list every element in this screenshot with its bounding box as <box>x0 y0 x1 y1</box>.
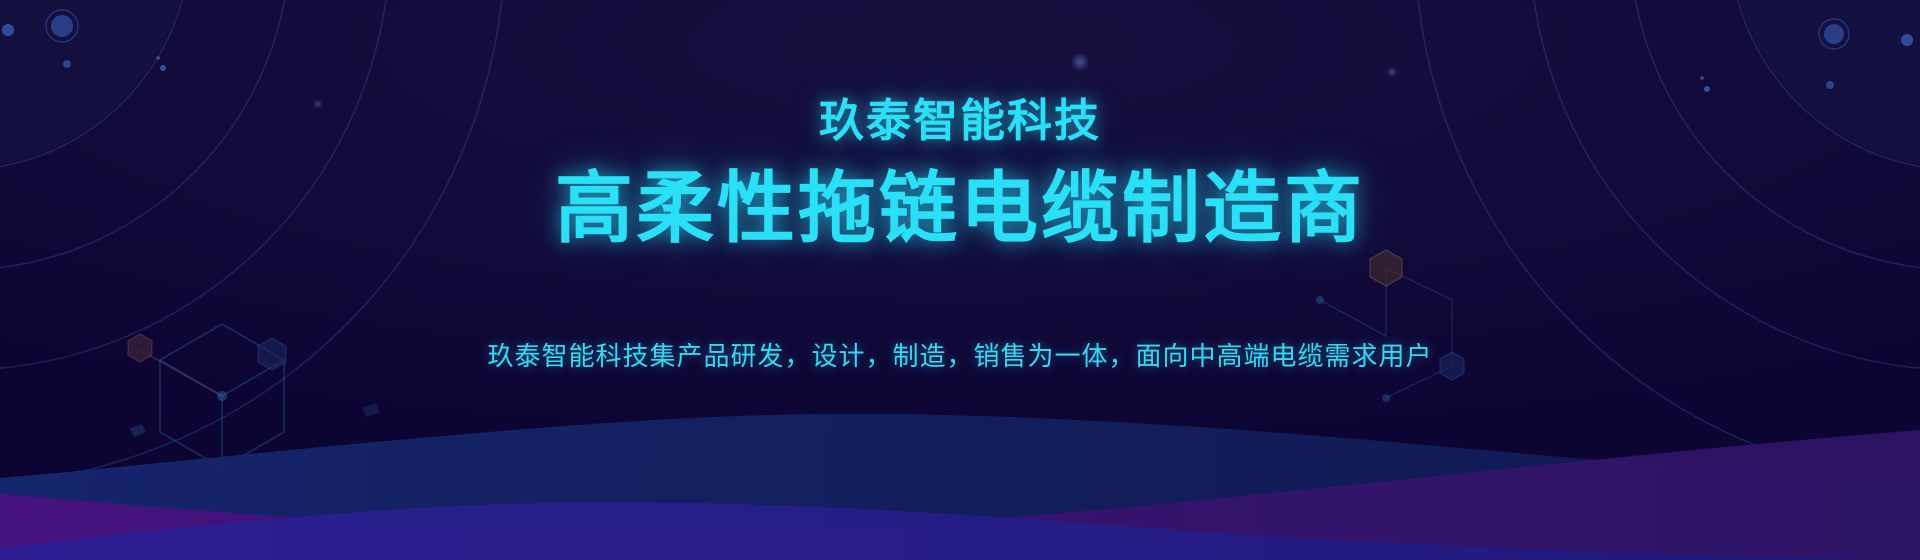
hero-subtitle: 玖泰智能科技集产品研发，设计，制造，销售为一体，面向中高端电缆需求用户 <box>487 341 1432 372</box>
hero-content: 玖泰智能科技 高柔性拖链电缆制造商 玖泰智能科技集产品研发，设计，制造，销售为一… <box>0 0 1920 560</box>
hero-banner: 玖泰智能科技 高柔性拖链电缆制造商 玖泰智能科技集产品研发，设计，制造，销售为一… <box>0 0 1920 560</box>
page-title: 高柔性拖链电缆制造商 <box>555 169 1365 247</box>
company-name-eyebrow: 玖泰智能科技 <box>819 98 1101 143</box>
